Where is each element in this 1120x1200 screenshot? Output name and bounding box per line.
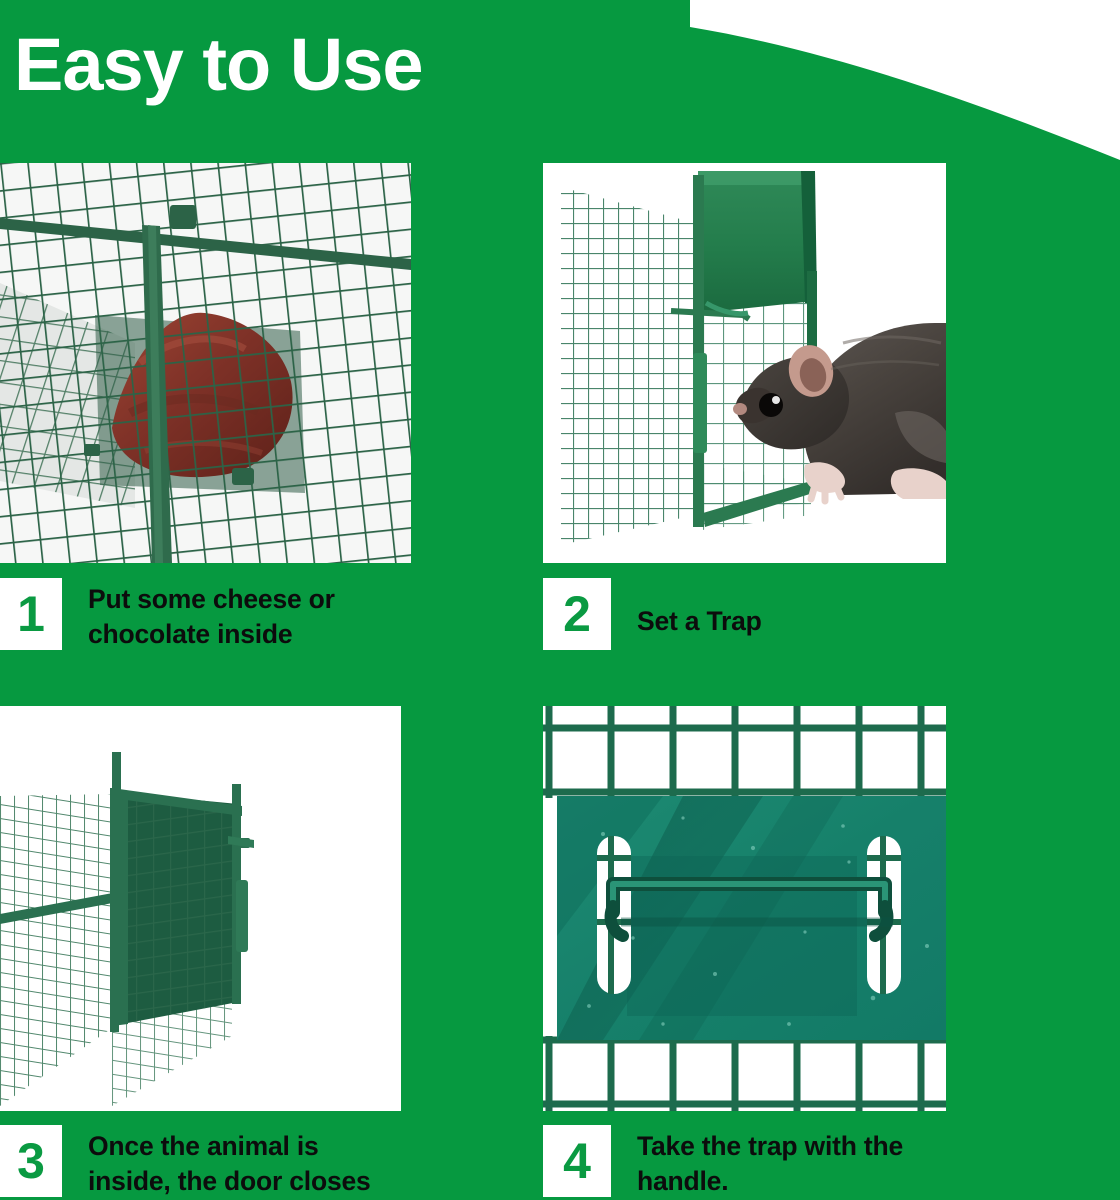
trap-handle-closeup-illustration xyxy=(543,706,946,1111)
header: Easy to Use xyxy=(0,0,1120,163)
step-1-badge: 1 xyxy=(0,578,62,650)
step-1-caption-row: 1 Put some cheese or chocolate inside xyxy=(0,578,411,652)
step-2: 2 Set a Trap xyxy=(543,163,946,650)
step-4-caption-row: 4 Take the trap with the handle. xyxy=(543,1125,946,1199)
step-3: 3 Once the animal is inside, the door cl… xyxy=(0,706,401,1199)
page-title: Easy to Use xyxy=(14,28,423,102)
step-2-caption: Set a Trap xyxy=(637,578,946,639)
step-4-photo xyxy=(543,706,946,1111)
step-3-caption: Once the animal is inside, the door clos… xyxy=(88,1125,401,1199)
step-3-photo xyxy=(0,706,401,1111)
step-4-badge: 4 xyxy=(543,1125,611,1197)
step-2-badge: 2 xyxy=(543,578,611,650)
trap-with-bait-illustration xyxy=(0,163,411,563)
step-2-caption-row: 2 Set a Trap xyxy=(543,578,946,650)
steps-grid: 1 Put some cheese or chocolate inside xyxy=(0,163,1120,1200)
step-1: 1 Put some cheese or chocolate inside xyxy=(0,163,411,652)
trap-closed-door-illustration xyxy=(0,706,401,1111)
step-2-photo xyxy=(543,163,946,563)
step-3-badge: 3 xyxy=(0,1125,62,1197)
step-3-caption-row: 3 Once the animal is inside, the door cl… xyxy=(0,1125,401,1199)
step-1-caption: Put some cheese or chocolate inside xyxy=(88,578,411,652)
step-4: 4 Take the trap with the handle. xyxy=(543,706,946,1199)
step-1-photo xyxy=(0,163,411,563)
trap-open-with-rat-illustration xyxy=(543,163,946,563)
step-4-caption: Take the trap with the handle. xyxy=(637,1125,946,1199)
